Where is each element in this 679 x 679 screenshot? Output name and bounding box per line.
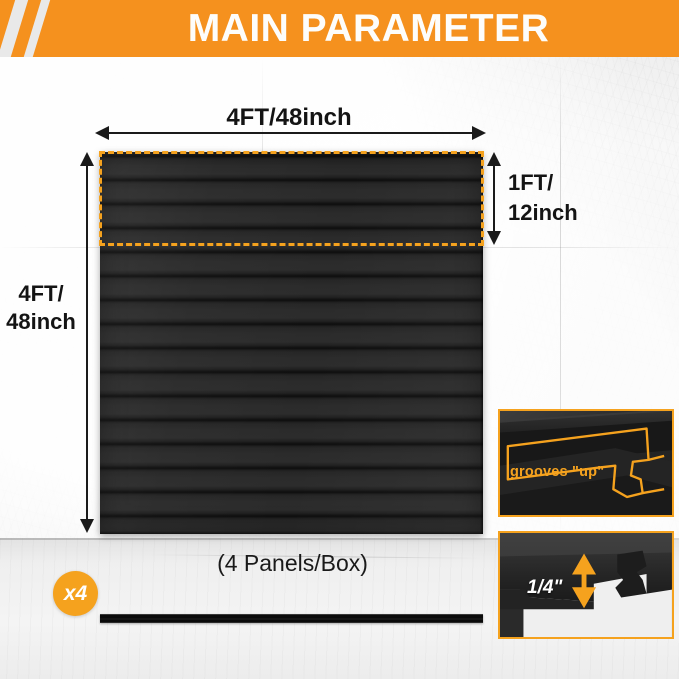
panel-stack-side-view [100,614,483,623]
inset-grooves-orientation: grooves "up" [498,409,674,517]
thickness-label: 1/4" [527,577,562,599]
panel-bottom-edge [100,531,483,534]
inset-panel-thickness: 1/4" [498,531,674,639]
arrow-head-up-icon [80,152,94,166]
section-dimension-label: 1FT/ 12inch [508,168,668,228]
section-label-line2: 12inch [508,198,668,228]
arrow-head-down-icon [80,519,94,533]
section-label-line1: 1FT/ [508,168,668,198]
height-dimension-line [86,165,88,522]
thickness-profile-diagram-icon [500,533,672,639]
arrow-head-up-icon-section [487,152,501,166]
grooves-up-label: grooves "up" [510,464,628,480]
width-dimension-line [108,132,474,134]
width-dimension-label: 4FT/48inch [95,104,483,132]
section-dimension-line [493,165,495,233]
height-label-line2: 48inch [2,308,80,336]
height-dimension-label: 4FT/ 48inch [2,280,80,336]
panels-per-box-caption: (4 Panels/Box) [120,550,465,577]
quantity-badge: x4 [53,571,98,616]
section-highlight-dashed-box [99,151,484,246]
height-label-line1: 4FT/ [2,280,80,308]
arrow-head-down-icon-section [487,231,501,245]
page-title: MAIN PARAMETER [0,0,679,57]
